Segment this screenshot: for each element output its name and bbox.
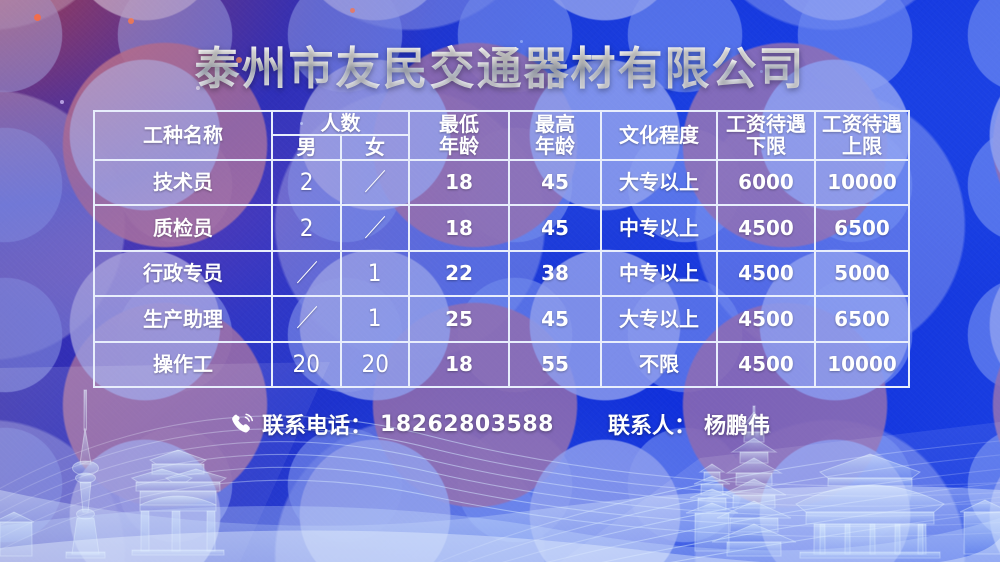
cell-male: 20 [272,342,341,387]
header-max-age-line2: 年龄 [510,135,600,157]
cell-salary-max: 10000 [815,160,909,205]
header-education: 文化程度 [601,111,717,160]
cell-education: 大专以上 [601,296,717,341]
table-row: 质检员 2 ／ 18 45 中专以上 4500 6500 [94,205,909,250]
table-header-row-1: 工种名称 人数 最低 年龄 最高 年龄 文化程度 工资待遇 下限 [94,111,909,135]
contact-phone-label: 联系电话： [262,408,372,440]
cell-max-age: 38 [509,251,601,296]
cell-salary-max: 6500 [815,205,909,250]
cell-min-age: 18 [409,205,509,250]
cell-male: 2 [272,160,341,205]
header-min-age: 最低 年龄 [409,111,509,160]
cell-max-age: 45 [509,205,601,250]
header-max-age: 最高 年龄 [509,111,601,160]
cell-job: 生产助理 [94,296,272,341]
cell-female: 20 [341,342,409,387]
cell-education: 中专以上 [601,205,717,250]
cell-male: 2 [272,205,341,250]
wave-ribbon-decoration [0,362,1000,562]
cell-salary-min: 4500 [717,251,815,296]
recruitment-table-container: 工种名称 人数 最低 年龄 最高 年龄 文化程度 工资待遇 下限 [93,110,908,388]
cell-salary-min: 6000 [717,160,815,205]
contact-person-label: 联系人： [608,408,696,440]
cell-max-age: 45 [509,160,601,205]
page-title: 泰州市友民交通器材有限公司 [0,32,1000,97]
contact-phone-group: 联系电话： 18262803588 [230,408,554,440]
cell-job: 行政专员 [94,251,272,296]
table-row: 行政专员 ／ 1 22 38 中专以上 4500 5000 [94,251,909,296]
cell-female: ／ [341,205,409,250]
contact-person-name: 杨鹏伟 [704,408,770,440]
cell-education: 大专以上 [601,160,717,205]
cell-min-age: 22 [409,251,509,296]
table-row: 操作工 20 20 18 55 不限 4500 10000 [94,342,909,387]
cell-salary-min: 4500 [717,205,815,250]
cell-salary-min: 4500 [717,342,815,387]
cell-salary-max: 6500 [815,296,909,341]
recruitment-poster: 泰州市友民交通器材有限公司 工种名称 人数 最低 年龄 [0,0,1000,562]
header-salary-min-line2: 下限 [718,135,814,157]
cell-max-age: 45 [509,296,601,341]
header-salary-max-line2: 上限 [816,135,908,157]
cell-education: 中专以上 [601,251,717,296]
recruitment-table: 工种名称 人数 最低 年龄 最高 年龄 文化程度 工资待遇 下限 [93,110,910,388]
cell-min-age: 18 [409,342,509,387]
header-max-age-line1: 最高 [510,113,600,135]
cell-male: ／ [272,296,341,341]
cell-max-age: 55 [509,342,601,387]
cell-min-age: 18 [409,160,509,205]
cell-job: 操作工 [94,342,272,387]
header-headcount-male: 男 [272,135,341,159]
header-salary-max-line1: 工资待遇 [816,113,908,135]
cell-female: 1 [341,251,409,296]
header-salary-min: 工资待遇 下限 [717,111,815,160]
header-headcount: 人数 [272,111,409,135]
header-min-age-line2: 年龄 [410,135,508,157]
cell-job: 技术员 [94,160,272,205]
phone-call-icon [230,412,254,436]
header-salary-min-line1: 工资待遇 [718,113,814,135]
cell-salary-max: 10000 [815,342,909,387]
contact-phone-number: 18262803588 [380,412,554,437]
cell-min-age: 25 [409,296,509,341]
cell-male: ／ [272,251,341,296]
table-row: 生产助理 ／ 1 25 45 大专以上 4500 6500 [94,296,909,341]
cell-salary-max: 5000 [815,251,909,296]
header-headcount-female: 女 [341,135,409,159]
cell-female: ／ [341,160,409,205]
header-min-age-line1: 最低 [410,113,508,135]
cell-salary-min: 4500 [717,296,815,341]
header-salary-max: 工资待遇 上限 [815,111,909,160]
cell-female: 1 [341,296,409,341]
contact-person-group: 联系人： 杨鹏伟 [608,408,770,440]
contact-bar: 联系电话： 18262803588 联系人： 杨鹏伟 [0,408,1000,440]
table-row: 技术员 2 ／ 18 45 大专以上 6000 10000 [94,160,909,205]
cell-education: 不限 [601,342,717,387]
header-job-title: 工种名称 [94,111,272,160]
cell-job: 质检员 [94,205,272,250]
